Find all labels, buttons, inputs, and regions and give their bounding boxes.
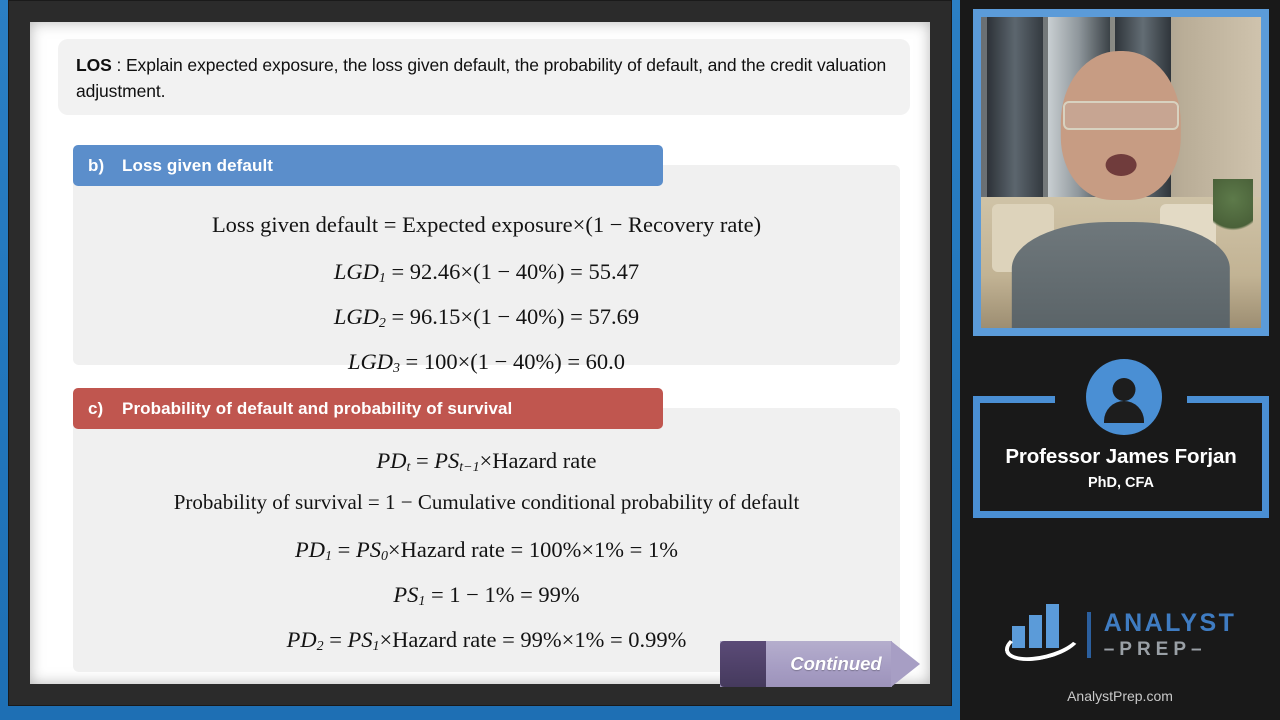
section-header-c: c) Probability of default and probabilit… (73, 388, 663, 429)
formula-var: LGD (348, 349, 393, 374)
formula-part: = 92.46×(1 − 40%) = 55.47 (386, 259, 639, 284)
brand-name-secondary: –PREP– (1104, 640, 1237, 659)
formula-sub: 2 (379, 316, 386, 331)
formula-sub: 1 (379, 271, 386, 286)
formula-sub: t−1 (459, 460, 479, 475)
formula-part: ×Hazard rate = 99%×1% = 0.99% (379, 627, 686, 652)
los-callout: LOS : Explain expected exposure, the los… (58, 39, 910, 115)
person-icon (1113, 378, 1136, 401)
formula-ps-definition: Probability of survival = 1 − Cumulative… (73, 490, 900, 515)
swoosh-icon (1001, 616, 1085, 668)
formula-var: LGD (334, 304, 379, 329)
formula-part: = 96.15×(1 − 40%) = 57.69 (386, 304, 639, 329)
avatar (1086, 359, 1162, 435)
formula-lgd-definition: Loss given default = Expected exposure×(… (73, 212, 900, 238)
los-label: LOS (76, 55, 112, 75)
formula-var: PS (356, 537, 381, 562)
formula-var: LGD (334, 259, 379, 284)
formula-part: = (324, 627, 348, 652)
presenter-name: Professor James Forjan (973, 445, 1269, 469)
logo-wordmark: ANALYST –PREP– (1104, 611, 1237, 659)
ribbon-end-block (720, 641, 766, 687)
glasses-icon (1063, 101, 1179, 130)
section-letter-c: c) (88, 399, 122, 419)
formula-part: ×Hazard rate (480, 448, 597, 473)
formula-var: PD (295, 537, 325, 562)
los-body: : Explain expected exposure, the loss gi… (76, 55, 886, 101)
formula-var: PD (287, 627, 317, 652)
formula-part: = (332, 537, 356, 562)
continued-ribbon: Continued (720, 641, 920, 687)
screen-root: LOS : Explain expected exposure, the los… (0, 0, 1280, 720)
formula-var: PS (348, 627, 373, 652)
presenter-panel: Professor James Forjan PhD, CFA ANALYST … (960, 0, 1280, 720)
formula-part: ×(1 − Recovery rate) (573, 212, 761, 237)
formula-var: PS (393, 582, 418, 607)
presenter-credentials: PhD, CFA (973, 475, 1269, 491)
formula-part: = (410, 448, 434, 473)
formula-sub: 0 (381, 549, 388, 564)
formula-part: = 100×(1 − 40%) = 60.0 (400, 349, 625, 374)
brand-logo: ANALYST –PREP– (960, 600, 1280, 670)
formula-part: ×Hazard rate = 100%×1% = 1% (388, 537, 678, 562)
formula-ps-1: PS1 = 1 − 1% = 99% (73, 582, 900, 610)
presenter-mouth (1106, 154, 1137, 176)
formula-part: Loss given default = Expected exposure (212, 212, 573, 237)
brand-name-primary: ANALYST (1104, 611, 1237, 636)
section-letter-b: b) (88, 156, 122, 176)
formula-lgd-3: LGD3 = 100×(1 − 40%) = 60.0 (73, 349, 900, 377)
continued-label: Continued (772, 641, 900, 687)
presenter-nameplate: Professor James Forjan PhD, CFA (973, 396, 1269, 518)
formula-lgd-1: LGD1 = 92.46×(1 − 40%) = 55.47 (73, 259, 900, 287)
lgd-formula-panel: Loss given default = Expected exposure×(… (73, 165, 900, 365)
person-icon-body (1104, 401, 1144, 423)
formula-pd-t: PDt = PSt−1×Hazard rate (73, 448, 900, 476)
brand-website: AnalystPrep.com (960, 688, 1280, 704)
formula-var: PD (376, 448, 406, 473)
formula-pd-1: PD1 = PS0×Hazard rate = 100%×1% = 1% (73, 537, 900, 565)
presentation-slide: LOS : Explain expected exposure, the los… (30, 22, 930, 684)
formula-lgd-2: LGD2 = 96.15×(1 − 40%) = 57.69 (73, 304, 900, 332)
presenter-torso (1012, 222, 1230, 328)
los-text: LOS : Explain expected exposure, the los… (76, 53, 892, 105)
bar-chart-icon (1004, 609, 1074, 661)
formula-sub: 1 (325, 549, 332, 564)
formula-sub: 3 (393, 361, 400, 376)
formula-var: PS (434, 448, 459, 473)
webcam-frame (973, 9, 1269, 336)
plant-shape (1213, 179, 1252, 247)
section-title-c: Probability of default and probability o… (122, 399, 512, 419)
webcam-video (981, 17, 1261, 328)
section-title-b: Loss given default (122, 156, 273, 176)
pd-formula-panel: PDt = PSt−1×Hazard rate Probability of s… (73, 408, 900, 672)
window-pane-icon (987, 17, 1043, 197)
formula-sub: 2 (317, 639, 324, 654)
formula-part: Probability of survival = 1 − Cumulative… (174, 490, 800, 514)
logo-divider (1087, 612, 1091, 658)
section-header-b: b) Loss given default (73, 145, 663, 186)
formula-part: = 1 − 1% = 99% (425, 582, 579, 607)
